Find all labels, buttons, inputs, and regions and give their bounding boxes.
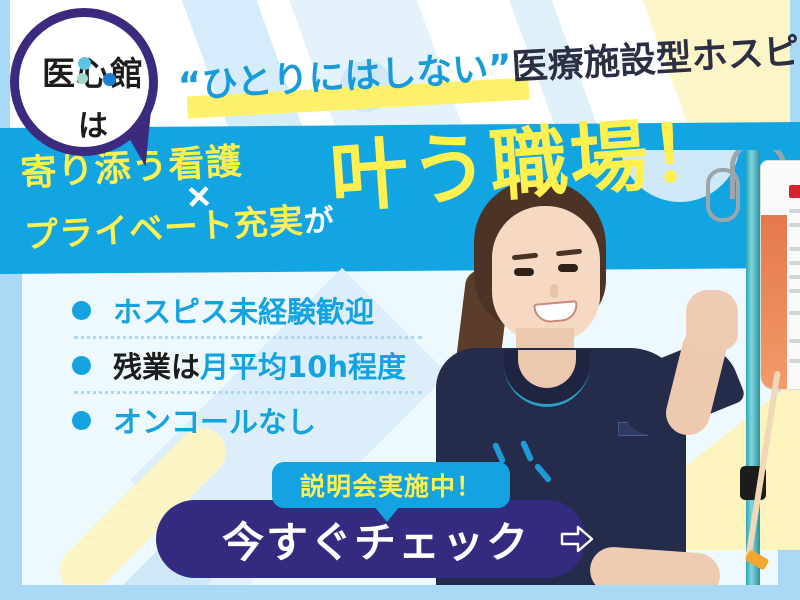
benefit-text: オンコールなし	[113, 399, 316, 441]
cta-button[interactable]: 今すぐチェック	[156, 500, 586, 578]
iv-label-line	[789, 247, 800, 251]
benefit-list: ホスピス未経験歓迎 残業は月平均10h程度 オンコールなし	[72, 284, 472, 446]
nurse-eye-right	[558, 264, 578, 272]
benefit-highlight: ホスピス未経験歓迎	[113, 295, 374, 329]
tagline-quote-open: “	[177, 65, 203, 107]
nurse-lower-arm	[589, 546, 722, 585]
iv-label-line	[789, 359, 800, 363]
logo-brand-name: 医心館	[19, 47, 167, 95]
cta-tag: 説明会実施中！	[272, 462, 510, 508]
iv-label-line	[789, 275, 800, 279]
logo-particle: は	[19, 101, 167, 145]
logo-dot-light-blue-icon	[78, 57, 91, 70]
iv-label-line	[789, 311, 800, 315]
iv-label-line	[789, 261, 800, 265]
iv-label-line	[789, 339, 800, 343]
benefit-text: ホスピス未経験歓迎	[113, 289, 374, 331]
iv-label-warning-1	[789, 185, 800, 198]
logo-dot-teal-icon	[77, 73, 88, 84]
tagline-quote-close: ”	[487, 47, 513, 89]
cross-icon: ×	[186, 176, 212, 217]
logo-dot-blue-icon	[103, 73, 116, 86]
iv-label-line	[789, 223, 800, 227]
nurse-eye-left	[514, 268, 534, 276]
bullet-dot-icon	[72, 411, 91, 430]
iv-bag	[760, 160, 800, 390]
benefit-highlight: オンコールなし	[113, 405, 316, 439]
iv-label-line	[789, 209, 800, 213]
logo-badge[interactable]: 医心館 は	[10, 8, 158, 156]
iv-label-line	[789, 289, 800, 293]
bullet-dot-icon	[72, 301, 91, 320]
band-particle: が	[303, 203, 336, 240]
benefit-prefix: 残業は	[113, 350, 200, 384]
tagline-rest: 医療施設型ホスピス	[511, 29, 800, 88]
nurse-nose	[550, 284, 558, 298]
iv-fluid	[761, 215, 787, 390]
ad-banner[interactable]: “ひとりにはしない”医療施設型ホスピス 寄り添う看護 プライベート充実が × 叶…	[0, 0, 800, 600]
bullet-dot-icon	[72, 356, 91, 375]
arrow-right-outline-icon	[560, 524, 594, 554]
cta-tag-pointer	[374, 506, 400, 522]
list-item: オンコールなし	[72, 394, 472, 446]
list-item: ホスピス未経験歓迎	[72, 284, 472, 336]
benefit-highlight: 月平均10h程度	[200, 350, 406, 384]
list-item: 残業は月平均10h程度	[72, 339, 472, 391]
benefit-text: 残業は月平均10h程度	[113, 344, 406, 386]
cta-tag-label: 説明会実施中！	[300, 467, 482, 503]
nurse-hand	[686, 290, 738, 350]
